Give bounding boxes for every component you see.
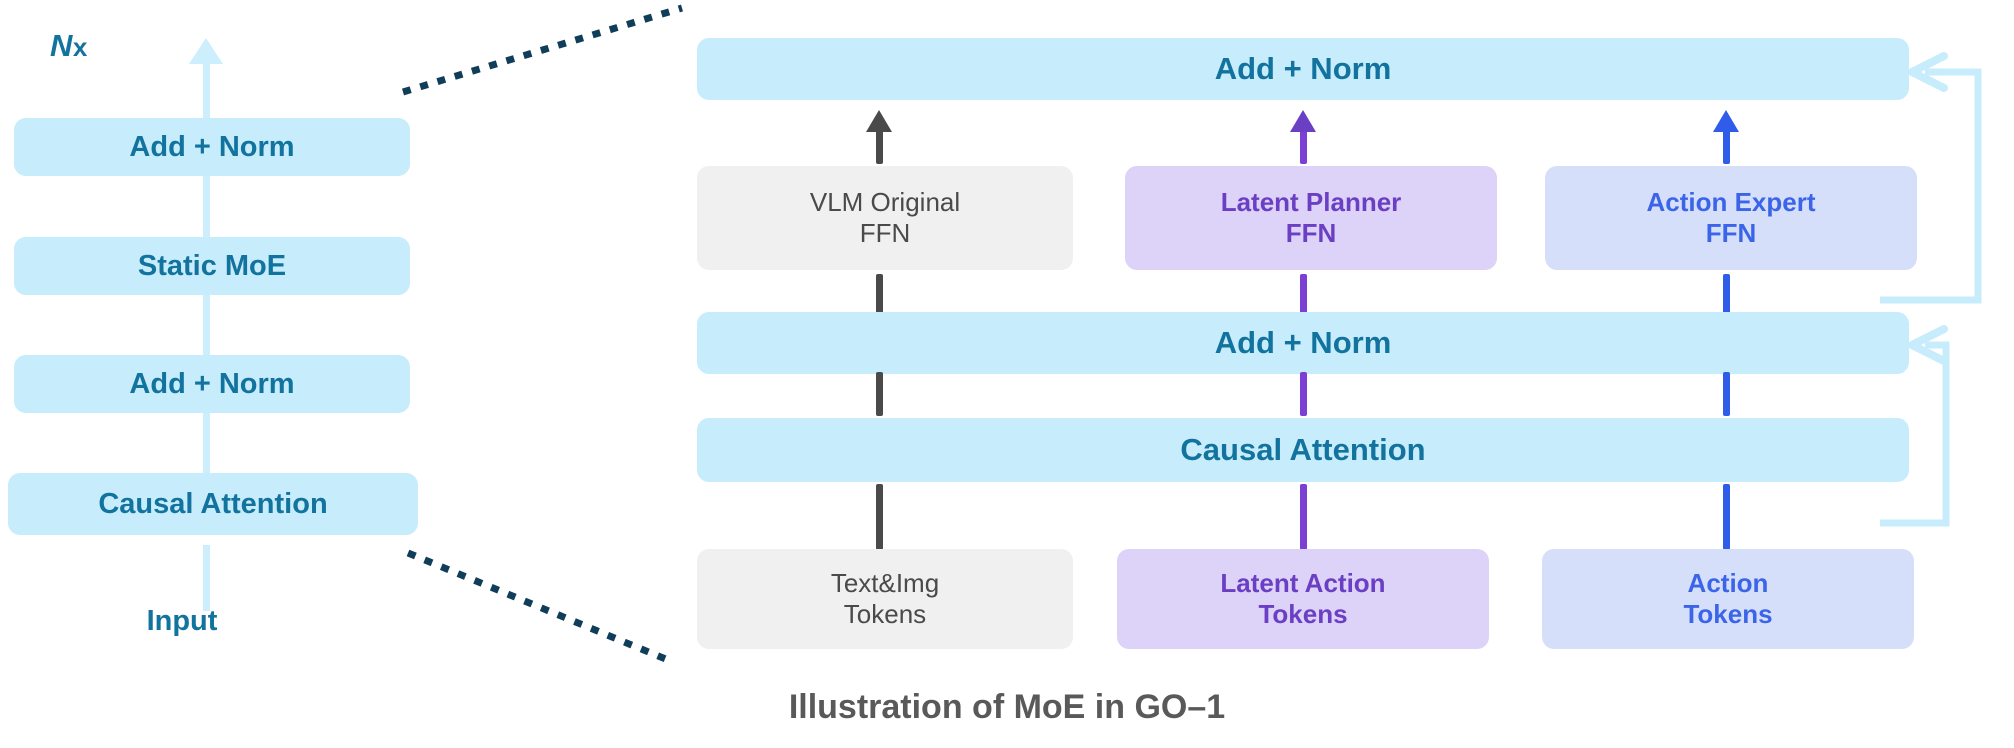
right-block-add-norm-top: Add + Norm bbox=[697, 38, 1909, 100]
rail-action-ffn-to-addnorm bbox=[1723, 128, 1730, 164]
rail-attention-to-addnorm-action bbox=[1723, 372, 1730, 416]
token-block-action: Action Tokens bbox=[1542, 549, 1914, 649]
rail-text-tokens-to-attention bbox=[876, 484, 883, 550]
left-block-static-moe: Static MoE bbox=[14, 237, 410, 295]
arrowhead-action-ffn-up bbox=[1713, 110, 1739, 132]
ffn-block-latent-planner: Latent Planner FFN bbox=[1125, 166, 1497, 270]
residual-loop-lower-arrowhead bbox=[1912, 329, 1944, 361]
right-block-add-norm-mid: Add + Norm bbox=[697, 312, 1909, 374]
ffn-block-vlm-original: VLM Original FFN bbox=[697, 166, 1073, 270]
repeat-count-label: Nx bbox=[50, 28, 88, 64]
repeat-count-x: x bbox=[73, 32, 88, 62]
dotted-zoom-line-bottom bbox=[408, 553, 668, 660]
arrowhead-planner-ffn-up bbox=[1290, 110, 1316, 132]
right-block-causal-attention: Causal Attention bbox=[697, 418, 1909, 482]
moe-architecture-diagram: Nx Add + Norm Static MoE Add + Norm Caus… bbox=[0, 0, 2014, 748]
repeat-count-n: N bbox=[50, 28, 73, 63]
input-label: Input bbox=[92, 605, 272, 638]
residual-loop-upper-arrowhead bbox=[1912, 56, 1944, 88]
rail-attention-to-addnorm-vlm bbox=[876, 372, 883, 416]
dotted-zoom-line-top bbox=[403, 8, 682, 92]
ffn-block-action-expert: Action Expert FFN bbox=[1545, 166, 1917, 270]
left-block-causal-attention: Causal Attention bbox=[8, 473, 418, 535]
left-spine-seg-4 bbox=[203, 545, 210, 611]
rail-action-tokens-to-attention bbox=[1723, 484, 1730, 550]
rail-planner-ffn-to-addnorm bbox=[1300, 128, 1307, 164]
token-block-latent-action: Latent Action Tokens bbox=[1117, 549, 1489, 649]
rail-vlm-ffn-to-addnorm bbox=[876, 128, 883, 164]
figure-caption: Illustration of MoE in GO–1 bbox=[0, 688, 2014, 727]
rail-latent-tokens-to-attention bbox=[1300, 484, 1307, 550]
left-block-add-norm-top: Add + Norm bbox=[14, 118, 410, 176]
rail-attention-to-addnorm-planner bbox=[1300, 372, 1307, 416]
left-spine-arrowhead bbox=[189, 38, 223, 64]
left-block-add-norm-bottom: Add + Norm bbox=[14, 355, 410, 413]
arrowhead-vlm-ffn-up bbox=[866, 110, 892, 132]
token-block-text-img: Text&Img Tokens bbox=[697, 549, 1073, 649]
left-spine-top bbox=[203, 60, 210, 122]
